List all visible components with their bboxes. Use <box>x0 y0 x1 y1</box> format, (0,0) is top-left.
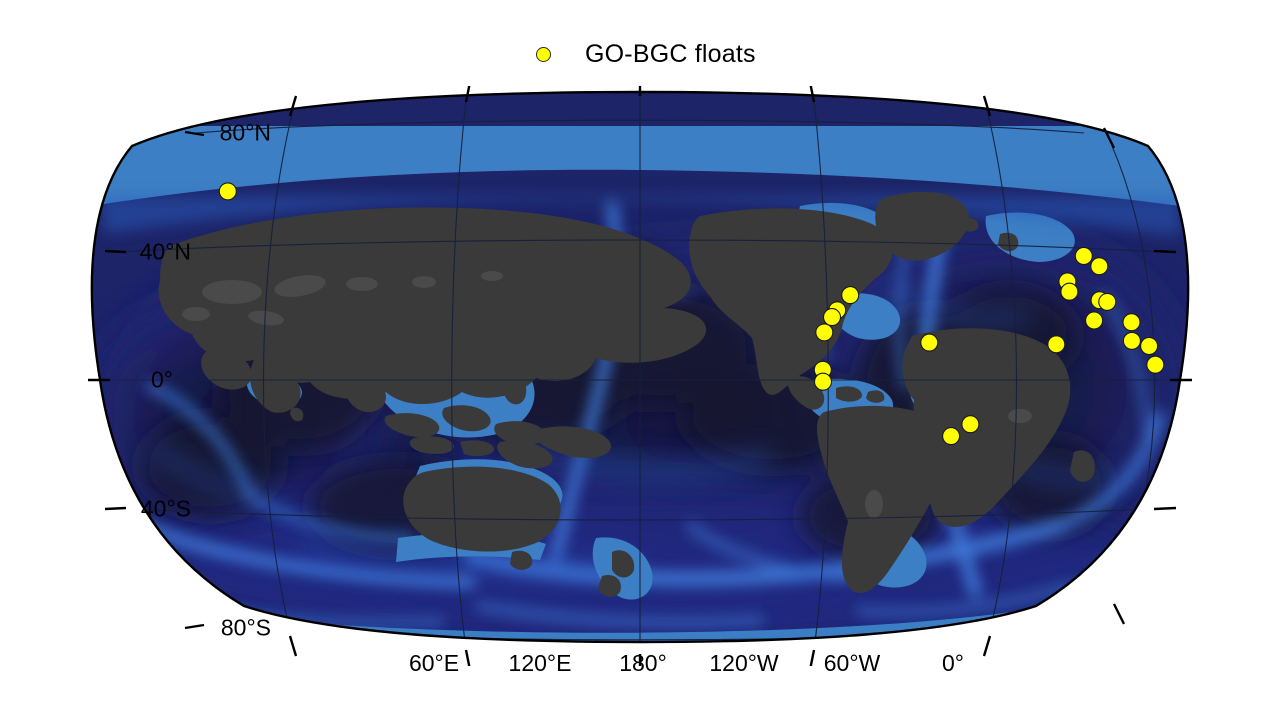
lon-label-0: 0° <box>942 650 964 677</box>
lat-label-0: 0° <box>151 367 173 394</box>
lat-label-40S: 40°S <box>141 496 191 523</box>
lat-label-80S: 80°S <box>221 615 271 642</box>
float-marker[interactable] <box>1048 336 1065 353</box>
legend-label: GO-BGC floats <box>585 40 756 69</box>
map-figure: GO-BGC floats <box>0 0 1280 720</box>
float-marker[interactable] <box>1123 314 1140 331</box>
lat-label-80N: 80°N <box>220 120 271 147</box>
tick-lon-60E-bottom <box>290 636 296 656</box>
float-marker[interactable] <box>1061 283 1078 300</box>
tick-lat-40N-right <box>1154 251 1176 252</box>
lon-label-180: 180° <box>619 650 667 677</box>
tick-lon-120W-bottom <box>810 650 814 666</box>
float-marker[interactable] <box>921 334 938 351</box>
float-marker[interactable] <box>815 373 832 390</box>
tick-lat-40S-right <box>1154 508 1176 509</box>
float-marker[interactable] <box>1099 293 1116 310</box>
tick-lon-120E-bottom <box>466 650 470 666</box>
float-marker[interactable] <box>1075 248 1092 265</box>
ocean-layer <box>90 92 1188 666</box>
tick-lon-0W-bottom <box>984 636 990 656</box>
tick-lat-40N <box>105 251 126 252</box>
float-marker[interactable] <box>1123 332 1140 349</box>
float-marker[interactable] <box>943 428 960 445</box>
float-marker[interactable] <box>1086 312 1103 329</box>
float-marker[interactable] <box>219 183 236 200</box>
float-marker[interactable] <box>1147 356 1164 373</box>
tick-lon-0-bottom <box>1114 604 1124 624</box>
float-marker[interactable] <box>842 287 859 304</box>
tick-lat-40S <box>105 508 126 509</box>
lat-label-40N: 40°N <box>140 239 191 266</box>
float-marker[interactable] <box>1091 258 1108 275</box>
lon-label-60E: 60°E <box>409 650 459 677</box>
world-map <box>0 86 1280 666</box>
float-marker[interactable] <box>816 324 833 341</box>
lon-label-60W: 60°W <box>824 650 881 677</box>
lon-label-120W: 120°W <box>709 650 778 677</box>
float-marker[interactable] <box>1141 338 1158 355</box>
tick-lat-80S <box>185 625 204 628</box>
lon-label-120E: 120°E <box>509 650 572 677</box>
float-marker[interactable] <box>962 416 979 433</box>
map-container <box>0 86 1280 666</box>
float-marker[interactable] <box>824 309 841 326</box>
legend-marker-icon <box>536 47 551 62</box>
legend: GO-BGC floats <box>536 36 756 72</box>
